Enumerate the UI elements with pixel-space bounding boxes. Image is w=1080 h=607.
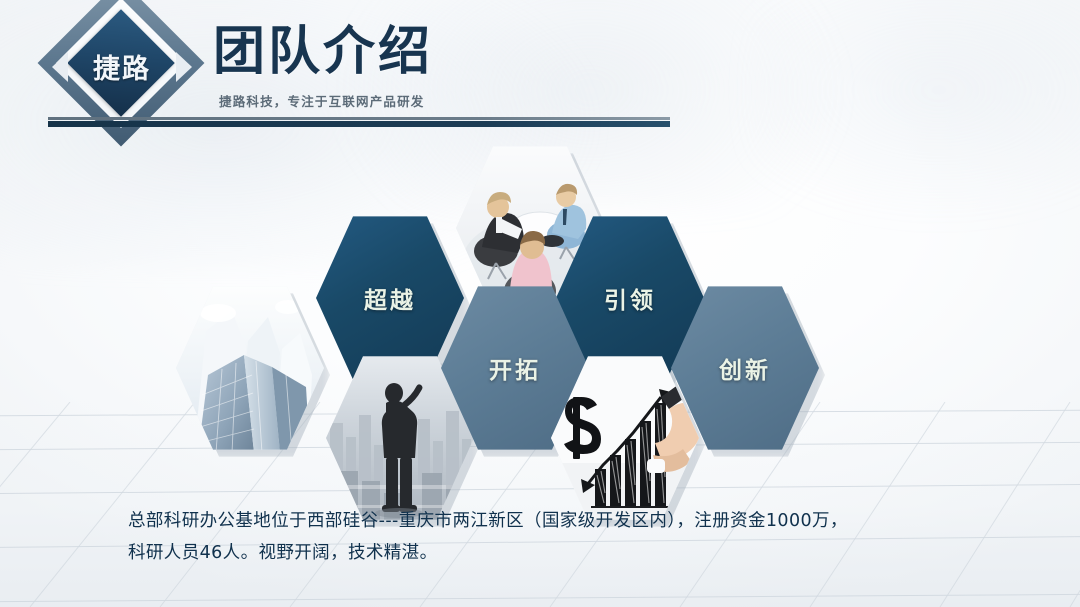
body-line-1: 总部科研办公基地位于西部硅谷---重庆市两江新区（国家级开发区内），注册资金10… [128, 505, 968, 537]
logo-text: 捷路 [38, 4, 206, 128]
slide-canvas: 捷路 团队介绍 捷路科技，专注于互联网产品研发 [0, 0, 1080, 607]
header-rule-thick [48, 121, 670, 127]
body-line-2: 科研人员46人。视野开阔，技术精湛。 [128, 537, 968, 569]
body-paragraph: 总部科研办公基地位于西部硅谷---重庆市两江新区（国家级开发区内），注册资金10… [128, 505, 968, 569]
company-logo[interactable]: 捷路 [38, 4, 206, 128]
hexagon-label: 引领 [604, 281, 656, 315]
hexagon-label: 超越 [364, 281, 416, 315]
slide-header: 捷路 团队介绍 捷路科技，专注于互联网产品研发 [0, 0, 1080, 140]
page-title: 团队介绍 [213, 23, 433, 81]
hexagon-cluster: 超越 [0, 130, 1080, 510]
page-subtitle: 捷路科技，专注于互联网产品研发 [219, 91, 425, 110]
hexagon-label: 开拓 [489, 351, 541, 385]
header-rule-thin [48, 117, 670, 120]
hexagon-label: 创新 [719, 351, 771, 385]
